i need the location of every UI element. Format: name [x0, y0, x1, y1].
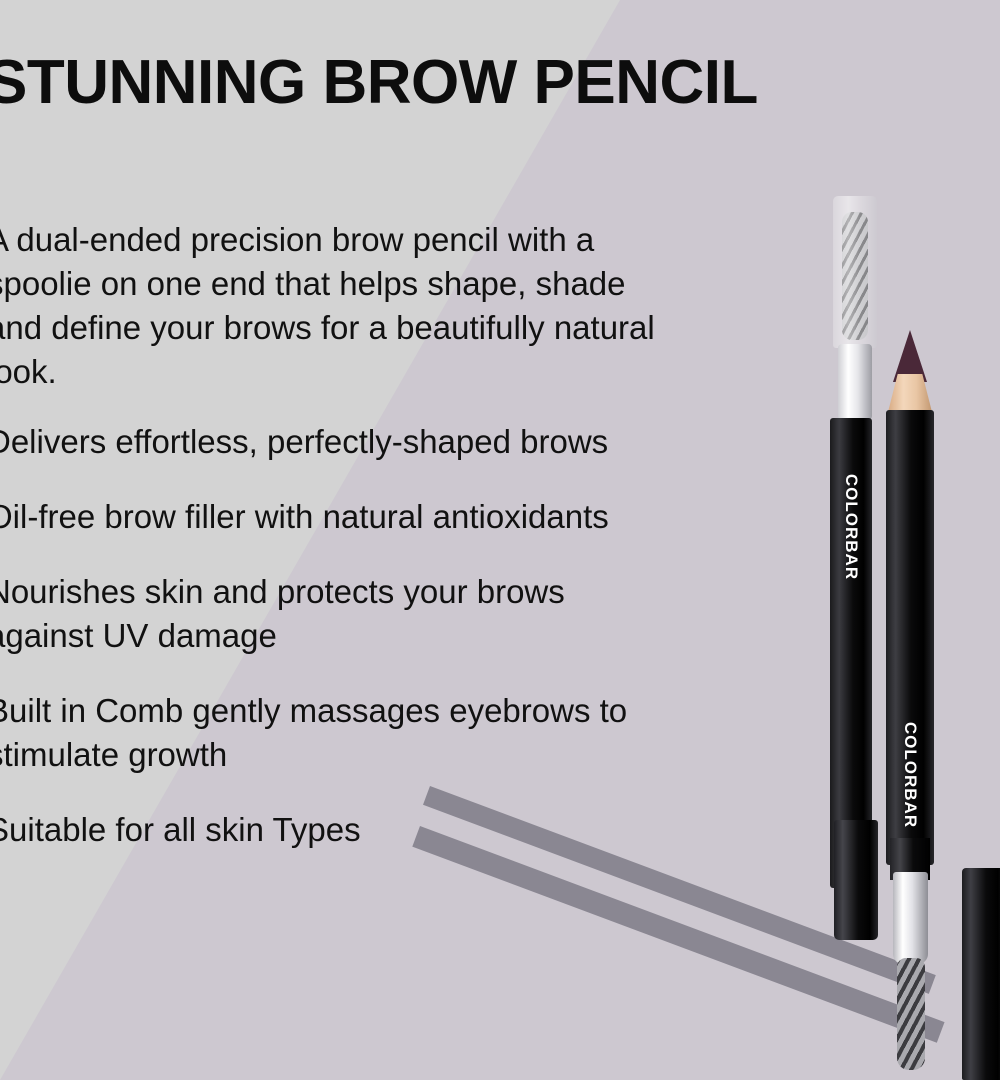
product-marketing-image: STUNNING BROW PENCIL A dual-ended precis…	[0, 0, 1000, 1080]
feature-list: Delivers effortless, perfectly-shaped br…	[0, 420, 847, 852]
list-item: Delivers effortless, perfectly-shaped br…	[0, 420, 847, 464]
product-description: A dual-ended precision brow pencil with …	[0, 218, 847, 394]
list-item: Built in Comb gently massages eyebrows t…	[0, 689, 847, 777]
product-copy: A dual-ended precision brow pencil with …	[0, 218, 847, 883]
list-item: Suitable for all skin Types	[0, 808, 847, 852]
list-item: Oil-free brow filler with natural antiox…	[0, 495, 847, 539]
list-item: Nourishes skin and protects your brows a…	[0, 570, 847, 658]
page-title: STUNNING BROW PENCIL	[0, 52, 1000, 114]
